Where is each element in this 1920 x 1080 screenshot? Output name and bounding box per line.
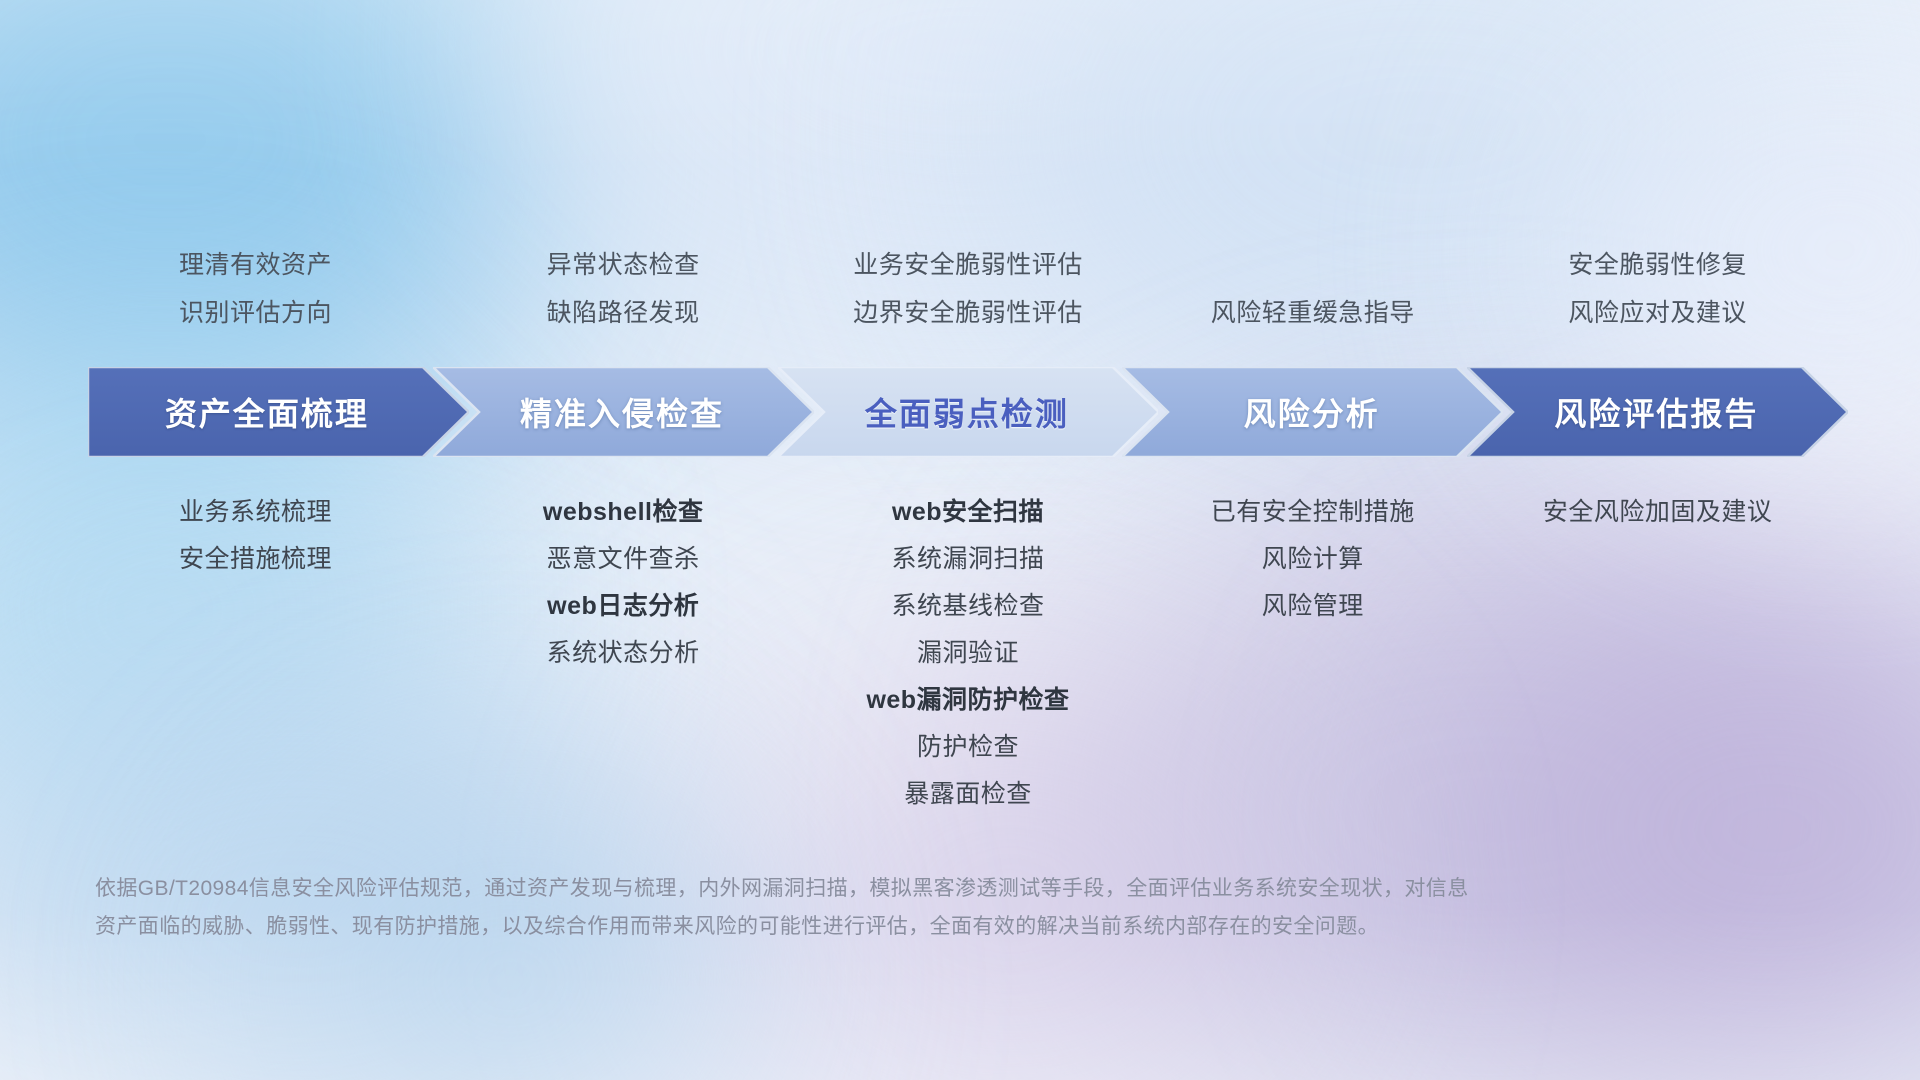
process-infographic: 理清有效资产识别评估方向异常状态检查缺陷路径发现业务安全脆弱性评估边界安全脆弱性… <box>0 0 1920 1080</box>
stage-title-asset-sorting: 资产全面梳理 <box>165 389 369 435</box>
bottom-list-item: web漏洞防护检查 <box>718 677 1218 724</box>
stage-title-weakness-detection: 全面弱点检测 <box>865 389 1069 435</box>
bottom-list-item: 风险计算 <box>1063 536 1563 583</box>
bottom-list-item: 防护检查 <box>718 724 1218 771</box>
stage-title-risk-analysis: 风险分析 <box>1244 389 1380 435</box>
bottom-list-item: 暴露面检查 <box>718 771 1218 818</box>
bottom-list-item: 安全风险加固及建议 <box>1408 489 1908 536</box>
bottom-list-item: 漏洞验证 <box>718 630 1218 677</box>
stage-title-intrusion-check: 精准入侵检查 <box>520 389 724 435</box>
bottom-list-item: 风险管理 <box>1063 583 1563 630</box>
stage-title-assessment-report: 风险评估报告 <box>1554 389 1758 435</box>
stage-bottom-list-assessment-report: 安全风险加固及建议 <box>1408 489 1908 536</box>
footer-line-1: 依据GB/T20984信息安全风险评估规范，通过资产发现与梳理，内外网漏洞扫描，… <box>95 870 1615 908</box>
footer-line-2: 资产面临的威胁、脆弱性、现有防护措施，以及综合作用而带来风险的可能性进行评估，全… <box>95 908 1615 946</box>
footer-description: 依据GB/T20984信息安全风险评估规范，通过资产发现与梳理，内外网漏洞扫描，… <box>95 870 1615 946</box>
